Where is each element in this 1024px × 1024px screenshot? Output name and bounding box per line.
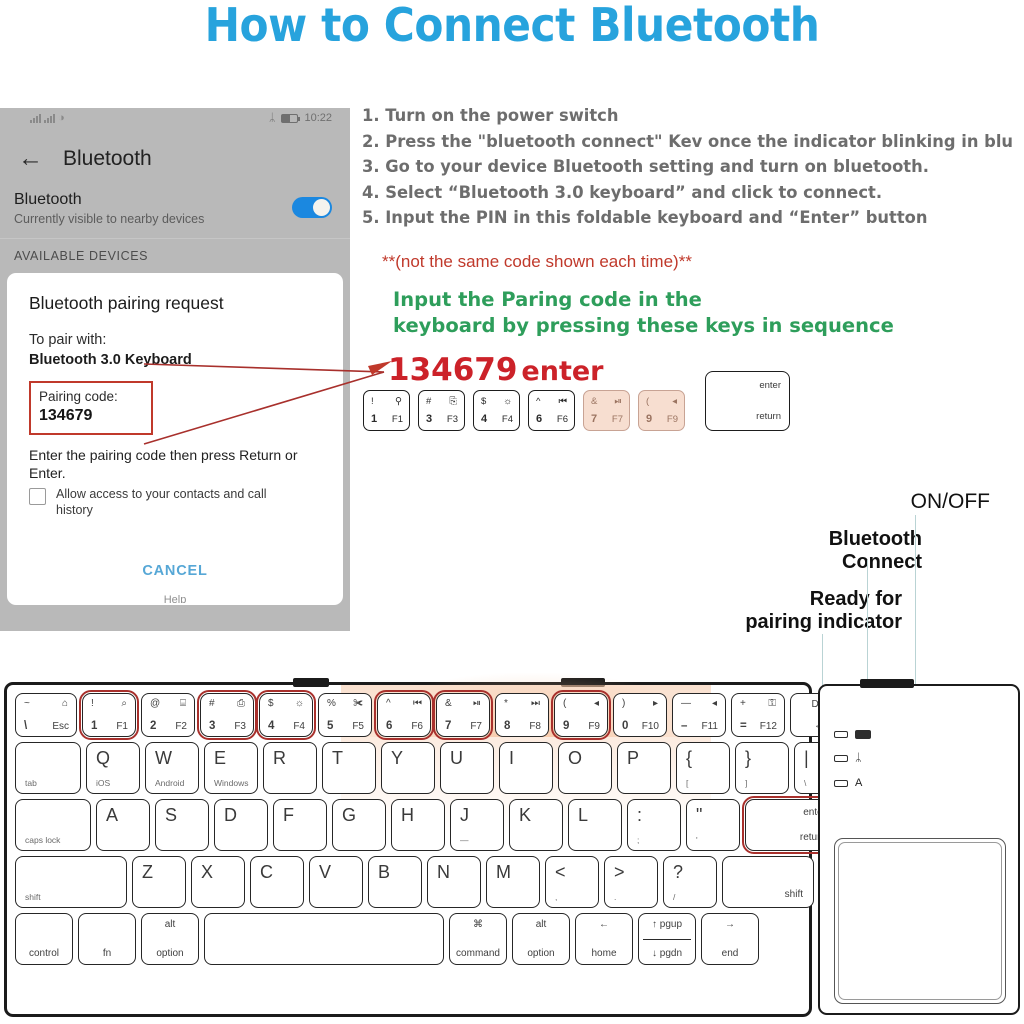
- brightness-icon: ☼: [295, 698, 304, 709]
- keyboard-qwerty-row: tabQiOSWAndroidEWindowsRTYUIOP{[}]|\: [15, 742, 848, 794]
- key--pgdn[interactable]: ↑ pgup↓ pgdn: [638, 913, 696, 965]
- key-fn-label: F5: [352, 721, 364, 732]
- key-t[interactable]: T: [322, 742, 376, 794]
- key-<[interactable]: <,: [545, 856, 599, 908]
- key-alt-label: ⌘: [450, 919, 506, 930]
- key-alt-label: ↑ pgup: [639, 919, 695, 930]
- key-home[interactable]: ←home: [575, 913, 633, 965]
- key-sequence-strip: ! ⚲ 1 F1 # ⎘ 3 F3 $ ☼ 4 F4 ^ ⏮ 6 F6 & ⏯ …: [363, 390, 790, 431]
- key-sub-label: iOS: [96, 778, 110, 788]
- key-shift-symbol: ~: [24, 698, 30, 709]
- led-pill-caps: [834, 780, 848, 787]
- keyboard-trackpad-panel: ᛦ A: [818, 684, 1020, 1015]
- key-:[interactable]: :;: [627, 799, 681, 851]
- key-c[interactable]: C: [250, 856, 304, 908]
- callout-ready-line1: Ready for: [745, 588, 902, 611]
- search-icon: ⚲: [395, 396, 402, 407]
- key-i[interactable]: I: [499, 742, 553, 794]
- phone-screenshot: ◑ ᛦ 10:22 ← Bluetooth Bluetooth Currentl…: [0, 108, 350, 631]
- phone-status-bar: ◑ ᛦ 10:22: [0, 108, 350, 130]
- volume-up-icon: ▸: [653, 698, 658, 709]
- key-primary-label: |: [804, 748, 809, 769]
- play-pause-icon: ⏯: [614, 396, 622, 407]
- key-v[interactable]: V: [309, 856, 363, 908]
- key-primary-label: 2: [150, 720, 156, 732]
- strip-key-enter[interactable]: enter return: [705, 371, 790, 431]
- instruction-steps: 1. Turn on the power switch 2. Press the…: [362, 106, 1024, 234]
- key-shift-symbol: ): [622, 698, 625, 709]
- key-d[interactable]: D: [214, 799, 268, 851]
- key-control[interactable]: control: [15, 913, 73, 965]
- strip-key-4[interactable]: $ ☼ 4 F4: [473, 390, 520, 431]
- strip-key-1-symbol: !: [371, 396, 374, 407]
- key-primary-label: V: [319, 862, 331, 883]
- pairing-code-label: Pairing code:: [39, 389, 143, 404]
- strip-key-9-digit: 9: [646, 413, 652, 425]
- key-primary-label: G: [342, 805, 356, 826]
- bluetooth-sublabel: Currently visible to nearby devices: [14, 212, 204, 226]
- key-primary-label: W: [155, 748, 172, 769]
- to-pair-with-label: To pair with:: [29, 332, 321, 348]
- key-alt-label: →: [702, 919, 758, 930]
- code-varies-note: **(not the same code shown each time)**: [382, 252, 692, 272]
- status-right: ᛦ 10:22: [269, 112, 332, 124]
- key-primary-label: C: [260, 862, 273, 883]
- key-sub-label: .: [614, 892, 616, 902]
- key-sub-label: /: [673, 892, 675, 902]
- key-x[interactable]: X: [191, 856, 245, 908]
- key-primary-label: A: [106, 805, 118, 826]
- green-line-1: Input the Paring code in the: [393, 287, 894, 313]
- key-primary-label: J: [460, 805, 469, 826]
- led-pill-battery: [834, 731, 848, 738]
- strip-key-4-digit: 4: [481, 413, 487, 425]
- status-left: ◑: [30, 113, 65, 123]
- key-sub-label: ;: [637, 835, 639, 845]
- step-2: 2. Press the "bluetooth connect" Kev onc…: [362, 132, 1024, 152]
- key-shift-symbol: !: [91, 698, 94, 709]
- key-fn-f2[interactable]: @⌸2F2: [141, 693, 195, 737]
- led-battery: [834, 730, 871, 739]
- key-shift-symbol: +: [740, 698, 746, 709]
- key-fn-f3[interactable]: #⎙3F3: [200, 693, 254, 737]
- strip-key-3-symbol: #: [426, 396, 431, 407]
- device-name: Bluetooth 3.0 Keyboard: [29, 352, 321, 368]
- strip-return-label: return: [756, 411, 781, 422]
- keyboard-function-row: ~⌂\Esc!⌕1F1@⌸2F2#⎙3F3$☼4F4%✀5F5^⏮6F6&⏯7F…: [15, 693, 848, 737]
- key-end[interactable]: →end: [701, 913, 759, 965]
- status-led-group: ᛦ A: [834, 730, 871, 802]
- key-fn-f6[interactable]: ^⏮6F6: [377, 693, 431, 737]
- key-primary-label: Y: [391, 748, 403, 769]
- key-primary-label: home: [576, 948, 632, 959]
- key-primary-label: 5: [327, 720, 333, 732]
- strip-key-4-fn: F4: [502, 414, 513, 425]
- key-option[interactable]: altoption: [512, 913, 570, 965]
- key-sub-label: ,: [555, 892, 557, 902]
- key-primary-label: Z: [142, 862, 153, 883]
- key-j[interactable]: J—: [450, 799, 504, 851]
- key-fn-label: F9: [588, 721, 600, 732]
- volume-down-icon: ◂: [672, 396, 677, 407]
- key-fn-f5[interactable]: %✀5F5: [318, 693, 372, 737]
- key-sub-label: \: [804, 778, 806, 788]
- key-fn-label: F12: [760, 721, 777, 732]
- strip-key-3[interactable]: # ⎘ 3 F3: [418, 390, 465, 431]
- key-o[interactable]: O: [558, 742, 612, 794]
- key-fn-label: F1: [116, 721, 128, 732]
- key-primary-label: \: [24, 720, 27, 732]
- screenshot-icon: ⎙: [237, 698, 245, 709]
- strip-key-3-digit: 3: [426, 413, 432, 425]
- key-"[interactable]: "': [686, 799, 740, 851]
- key-primary-label: O: [568, 748, 582, 769]
- bluetooth-toggle-row[interactable]: Bluetooth Currently visible to nearby de…: [0, 181, 350, 239]
- key-primary-label: B: [378, 862, 390, 883]
- led-bluetooth: ᛦ: [834, 752, 871, 764]
- play-pause-icon: ⏯: [473, 698, 481, 709]
- key-fn-esc[interactable]: ~⌂\Esc: [15, 693, 77, 737]
- key-s[interactable]: S: [155, 799, 209, 851]
- key-primary-label: E: [214, 748, 226, 769]
- key-fn-label: F6: [411, 721, 423, 732]
- step-1: 1. Turn on the power switch: [362, 106, 1024, 126]
- prev-track-icon: ⏮: [413, 698, 422, 709]
- key-secondary-label: shift: [785, 889, 803, 900]
- battery-icon: [281, 114, 298, 123]
- callout-bt-line1: Bluetooth: [829, 528, 922, 551]
- key-g[interactable]: G: [332, 799, 386, 851]
- key-primary-label: I: [509, 748, 514, 769]
- key-shift-symbol: (: [563, 698, 566, 709]
- strip-key-6-symbol: ^: [536, 396, 540, 407]
- key-primary-label: control: [16, 948, 72, 959]
- key-b[interactable]: B: [368, 856, 422, 908]
- key-primary-label: ?: [673, 862, 683, 883]
- key-}[interactable]: }]: [735, 742, 789, 794]
- key-fn-label: Esc: [52, 721, 69, 732]
- key-primary-label: 3: [209, 720, 215, 732]
- wifi-icon: ◑: [58, 113, 65, 123]
- strip-key-9-symbol: (: [646, 396, 649, 407]
- key-fn-f1[interactable]: !⌕1F1: [82, 693, 136, 737]
- key-{[interactable]: {[: [676, 742, 730, 794]
- key-primary-label: 9: [563, 720, 569, 732]
- keyboard-main-body: ~⌂\Esc!⌕1F1@⌸2F2#⎙3F3$☼4F4%✀5F5^⏮6F6&⏯7F…: [4, 682, 812, 1017]
- key-space[interactable]: [204, 913, 444, 965]
- key-primary-label: H: [401, 805, 414, 826]
- strip-key-6-fn: F6: [557, 414, 568, 425]
- key-sub-label: Android: [155, 778, 184, 788]
- key-primary-label: }: [745, 748, 751, 769]
- key-primary-label: N: [437, 862, 450, 883]
- key-primary-label: fn: [79, 948, 135, 959]
- key-primary-label: 7: [445, 720, 451, 732]
- hinge-panel: [860, 679, 914, 688]
- strip-key-7-digit: 7: [591, 413, 597, 425]
- key-fn[interactable]: fn: [78, 913, 136, 965]
- big-code-digits: 134679: [388, 352, 517, 388]
- key-fn-label: F8: [529, 721, 541, 732]
- key-primary-label: P: [627, 748, 639, 769]
- key-p[interactable]: P: [617, 742, 671, 794]
- volume-down-icon: ◂: [712, 698, 717, 709]
- key-fn-label: F3: [234, 721, 246, 732]
- led-pill-bluetooth: [834, 755, 848, 762]
- key-fn-label: F10: [642, 721, 659, 732]
- home-icon: ⌂: [62, 698, 68, 709]
- step-5: 5. Input the PIN in this foldable keyboa…: [362, 208, 1024, 228]
- key-alt-label: ←: [576, 919, 632, 930]
- key-shift-symbol: #: [209, 698, 215, 709]
- key-primary-label: =: [740, 720, 747, 732]
- pairing-code-box: Pairing code: 134679: [29, 381, 153, 435]
- brightness-icon: ☼: [503, 396, 512, 407]
- bluetooth-label: Bluetooth: [14, 191, 204, 209]
- key-option[interactable]: altoption: [141, 913, 199, 965]
- key-alt-label: alt: [513, 919, 569, 930]
- key-shift-symbol: $: [268, 698, 274, 709]
- key-m[interactable]: M: [486, 856, 540, 908]
- key-fn-f4[interactable]: $☼4F4: [259, 693, 313, 737]
- key-shift-symbol: —: [681, 698, 691, 709]
- strip-key-7-symbol: &: [591, 396, 597, 407]
- bluetooth-toggle-text: Bluetooth Currently visible to nearby de…: [14, 191, 204, 226]
- key-shift-symbol: @: [150, 698, 160, 709]
- key-l[interactable]: L: [568, 799, 622, 851]
- key-shift-symbol: &: [445, 698, 452, 709]
- back-arrow-icon[interactable]: ←: [18, 146, 43, 171]
- lock-icon: ⚿: [768, 698, 776, 709]
- key-shift-symbol: %: [327, 698, 336, 709]
- strip-key-9[interactable]: ( ◂ 9 F9: [638, 390, 685, 431]
- key-primary-label: {: [686, 748, 692, 769]
- strip-enter-label: enter: [759, 380, 781, 391]
- key-u[interactable]: U: [440, 742, 494, 794]
- key-sub-label: Windows: [214, 778, 248, 788]
- key-sub-label: ]: [745, 778, 747, 788]
- signal-bars-icon-2: [44, 114, 55, 123]
- key-caps-lock[interactable]: caps lock: [15, 799, 91, 851]
- next-track-icon: ⏭: [531, 698, 540, 709]
- key-primary-label: option: [513, 948, 569, 959]
- strip-key-9-fn: F9: [667, 414, 678, 425]
- strip-key-4-symbol: $: [481, 396, 486, 407]
- strip-key-6-digit: 6: [536, 413, 542, 425]
- led-caps: A: [834, 777, 871, 789]
- key-k[interactable]: K: [509, 799, 563, 851]
- key-primary-label: T: [332, 748, 343, 769]
- key-primary-label: end: [702, 948, 758, 959]
- key-fn-f10[interactable]: )▸0F10: [613, 693, 667, 737]
- key-sub-label: ': [696, 835, 698, 845]
- big-code-enter: enter: [521, 356, 603, 387]
- available-devices-header: AVAILABLE DEVICES: [0, 239, 350, 273]
- key-primary-label: S: [165, 805, 177, 826]
- allow-contacts-checkbox[interactable]: [29, 488, 46, 505]
- key-shift-symbol: *: [504, 698, 508, 709]
- key-a[interactable]: A: [96, 799, 150, 851]
- status-clock: 10:22: [304, 112, 332, 124]
- key-primary-label: X: [201, 862, 213, 883]
- key-sub-label: shift: [25, 892, 41, 902]
- key-f[interactable]: F: [273, 799, 327, 851]
- callout-bluetooth-connect: Bluetooth Connect: [829, 528, 922, 574]
- strip-key-7-fn: F7: [612, 414, 623, 425]
- keyboard-home-row: caps lockASDFGHJ—KL:;"'enterreturn: [15, 799, 837, 851]
- big-pairing-code: 134679enter: [388, 352, 604, 388]
- key-r[interactable]: R: [263, 742, 317, 794]
- strip-key-1-digit: 1: [371, 413, 377, 425]
- volume-mute-icon: ◂: [594, 698, 599, 709]
- keyboard-icon: ⌸: [180, 698, 186, 709]
- callout-bt-line2: Connect: [829, 551, 922, 574]
- key-sub-label: tab: [25, 778, 37, 788]
- step-3: 3. Go to your device Bluetooth setting a…: [362, 157, 1024, 177]
- cancel-button[interactable]: CANCEL: [7, 563, 343, 579]
- key-primary-label: >: [614, 862, 625, 883]
- caps-led-icon: A: [855, 777, 862, 789]
- strip-key-7[interactable]: & ⏯ 7 F7: [583, 390, 630, 431]
- allow-contacts-label: Allow access to your contacts and call h…: [56, 486, 271, 519]
- key-primary-label: 4: [268, 720, 274, 732]
- key-command[interactable]: ⌘command: [449, 913, 507, 965]
- bluetooth-toggle-switch[interactable]: [292, 197, 332, 218]
- key-tab[interactable]: tab: [15, 742, 81, 794]
- key-primary-label: 0: [622, 720, 628, 732]
- callout-onoff: ON/OFF: [911, 490, 990, 514]
- strip-key-6[interactable]: ^ ⏮ 6 F6: [528, 390, 575, 431]
- key-primary-label: –: [681, 720, 687, 732]
- step-4: 4. Select “Bluetooth 3.0 keyboard” and c…: [362, 183, 1024, 203]
- key-primary-label: L: [578, 805, 588, 826]
- key-primary-label: M: [496, 862, 511, 883]
- page-title: How to Connect Bluetooth: [41, 0, 983, 52]
- help-label[interactable]: Help: [7, 594, 343, 603]
- key-sub-label: caps lock: [25, 835, 60, 845]
- key-sub-label: —: [460, 835, 469, 845]
- key-fn-f12[interactable]: +⚿=F12: [731, 693, 785, 737]
- key-primary-label: F: [283, 805, 294, 826]
- signal-bars-icon: [30, 114, 41, 123]
- key-primary-label: <: [555, 862, 566, 883]
- bluetooth-icon: ᛦ: [269, 112, 276, 124]
- phone-app-title: Bluetooth: [63, 147, 152, 171]
- key-sub-label: [: [686, 778, 688, 788]
- leader-line-onoff: [915, 515, 916, 687]
- pairing-request-dialog: Bluetooth pairing request To pair with: …: [7, 273, 343, 605]
- prev-track-icon: ⏮: [558, 396, 567, 407]
- key-alt-label: alt: [142, 919, 198, 930]
- key-n[interactable]: N: [427, 856, 481, 908]
- key-shift[interactable]: shift: [15, 856, 127, 908]
- keyboard-shift-row: shiftZXCVBNM<,>.?/shift: [15, 856, 814, 908]
- key-primary-label: command: [450, 948, 506, 959]
- battery-led-icon: [855, 730, 871, 739]
- key-primary-label: :: [637, 805, 642, 826]
- key-w[interactable]: WAndroid: [145, 742, 199, 794]
- key-fn-f8[interactable]: *⏭8F8: [495, 693, 549, 737]
- green-instruction: Input the Paring code in the keyboard by…: [393, 287, 894, 339]
- bluetooth-led-icon: ᛦ: [855, 752, 862, 764]
- callout-ready-line2: pairing indicator: [745, 611, 902, 634]
- contacts-permission-row[interactable]: Allow access to your contacts and call h…: [29, 486, 321, 519]
- key-primary-label: U: [450, 748, 463, 769]
- keyboard-bottom-row: controlfnaltoption⌘commandaltoption←home…: [15, 913, 759, 965]
- foldable-keyboard: ~⌂\Esc!⌕1F1@⌸2F2#⎙3F3$☼4F4%✀5F5^⏮6F6&⏯7F…: [4, 682, 1022, 1019]
- key-primary-label: option: [142, 948, 198, 959]
- key-y[interactable]: Y: [381, 742, 435, 794]
- strip-key-1[interactable]: ! ⚲ 1 F1: [363, 390, 410, 431]
- key-fn-label: F7: [470, 721, 482, 732]
- key-primary-label: ↓ pgdn: [639, 948, 695, 959]
- callout-ready-indicator: Ready for pairing indicator: [745, 588, 902, 634]
- key-z[interactable]: Z: [132, 856, 186, 908]
- key-fn-f7[interactable]: &⏯7F7: [436, 693, 490, 737]
- key-primary-label: D: [224, 805, 237, 826]
- key->[interactable]: >.: [604, 856, 658, 908]
- dialog-instruction: Enter the pairing code then press Return…: [29, 447, 321, 482]
- key-fn-label: F11: [702, 721, 719, 732]
- key-primary-label: 8: [504, 720, 510, 732]
- key-fn-label: F2: [175, 721, 187, 732]
- key-primary-label: R: [273, 748, 286, 769]
- key-fn-f9[interactable]: (◂9F9: [554, 693, 608, 737]
- strip-key-3-fn: F3: [447, 414, 458, 425]
- cut-icon: ✀: [353, 698, 363, 709]
- search-icon: ⌕: [121, 698, 127, 709]
- key-?[interactable]: ?/: [663, 856, 717, 908]
- key-fn-label: F4: [293, 721, 305, 732]
- key-h[interactable]: H: [391, 799, 445, 851]
- screenshot-icon: ⎘: [449, 396, 457, 407]
- key-q[interactable]: QiOS: [86, 742, 140, 794]
- green-line-2: keyboard by pressing these keys in seque…: [393, 313, 894, 339]
- key-primary-label: 1: [91, 720, 97, 732]
- key-primary-label: Q: [96, 748, 110, 769]
- dialog-heading: Bluetooth pairing request: [29, 293, 321, 314]
- phone-app-bar: ← Bluetooth: [0, 130, 350, 181]
- trackpad[interactable]: [834, 838, 1006, 1004]
- key-fn-f11[interactable]: —◂–F11: [672, 693, 726, 737]
- pairing-code-value: 134679: [39, 407, 143, 425]
- strip-key-1-fn: F1: [392, 414, 403, 425]
- key-key[interactable]: shift: [722, 856, 814, 908]
- hinge-left: [293, 678, 329, 687]
- key-primary-label: ": [696, 805, 702, 826]
- key-shift-symbol: ^: [386, 698, 391, 709]
- key-e[interactable]: EWindows: [204, 742, 258, 794]
- key-primary-label: 6: [386, 720, 392, 732]
- key-primary-label: K: [519, 805, 531, 826]
